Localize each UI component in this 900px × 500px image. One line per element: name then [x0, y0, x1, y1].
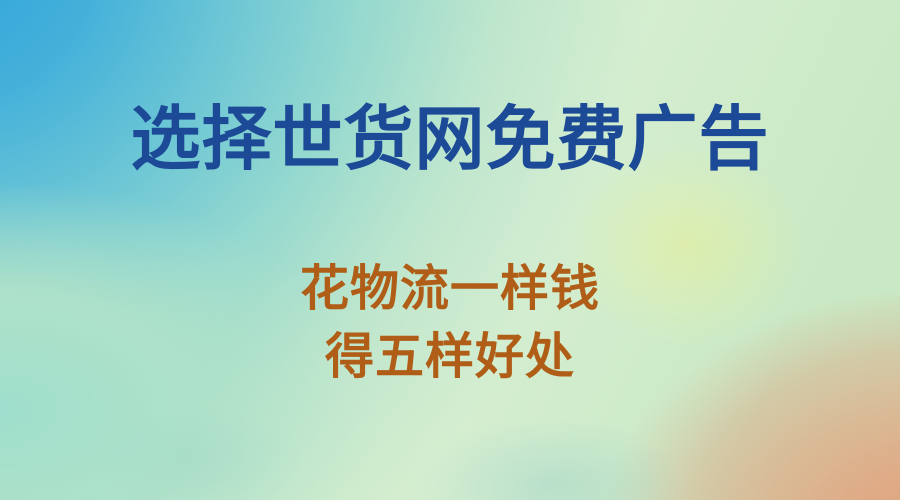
subheadline-block: 花物流一样钱 得五样好处 — [0, 255, 900, 391]
headline-text: 选择世货网免费广告 — [0, 104, 900, 174]
subheadline-line-1: 花物流一样钱 — [0, 255, 900, 323]
subheadline-line-2: 得五样好处 — [0, 323, 900, 391]
promo-banner: 选择世货网免费广告 花物流一样钱 得五样好处 — [0, 0, 900, 500]
banner-content: 选择世货网免费广告 花物流一样钱 得五样好处 — [0, 0, 900, 500]
